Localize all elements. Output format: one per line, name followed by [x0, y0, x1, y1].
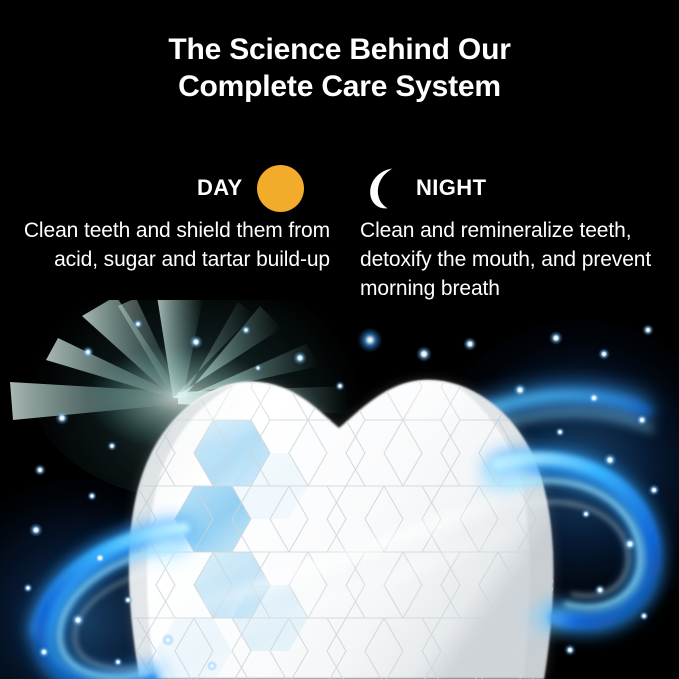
mode-header-day: DAY [197, 158, 304, 218]
night-description: Clean and remineralize teeth, detoxify t… [360, 216, 670, 303]
modes-header-row: DAY NIGHT [0, 158, 679, 218]
page-title: The Science Behind Our Complete Care Sys… [0, 31, 679, 105]
day-label: DAY [197, 177, 243, 199]
page-title-line-2: Complete Care System [0, 68, 679, 105]
sun-icon [257, 165, 304, 212]
sparkle-starfield [0, 300, 679, 679]
mode-header-night: NIGHT [358, 158, 486, 218]
moon-crescent-icon [358, 164, 406, 212]
night-label: NIGHT [416, 177, 486, 199]
tooth-hexagon-illustration [0, 300, 679, 679]
day-description: Clean teeth and shield them from acid, s… [18, 216, 330, 274]
poster-canvas: The Science Behind Our Complete Care Sys… [0, 0, 679, 679]
page-title-line-1: The Science Behind Our [0, 31, 679, 68]
sparkle-dots [23, 319, 660, 671]
